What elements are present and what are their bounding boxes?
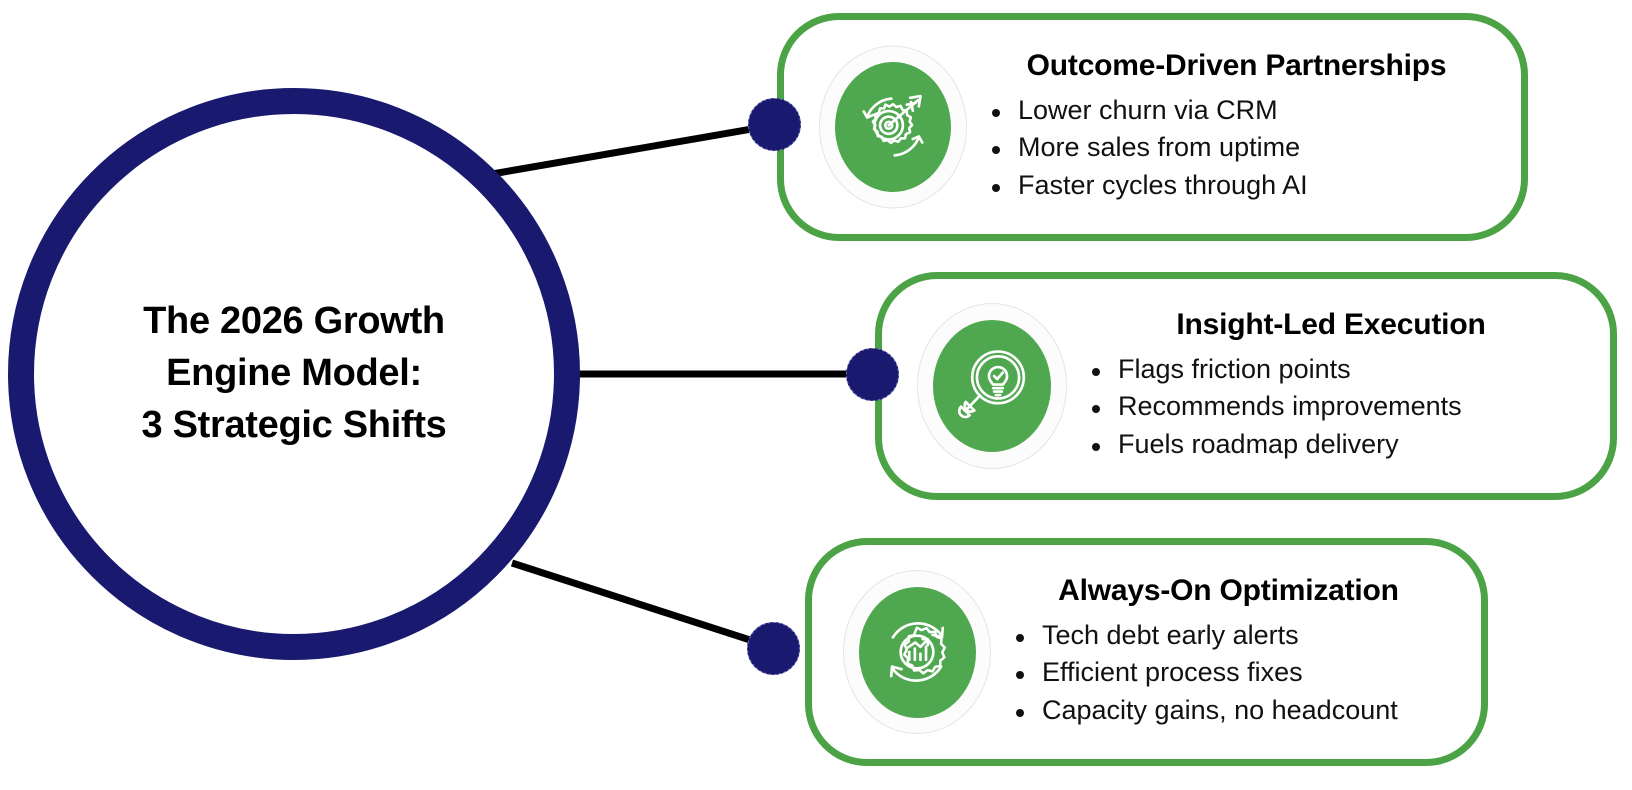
list-item: Fuels roadmap delivery [1114, 427, 1594, 462]
list-item: More sales from uptime [1014, 130, 1505, 165]
diagram-canvas: The 2026 Growth Engine Model: 3 Strategi… [0, 0, 1632, 790]
card-insight-led-execution[interactable]: Insight-Led Execution Flags friction poi… [875, 272, 1617, 500]
connector-node-card-1[interactable] [748, 98, 801, 151]
hub-circle: The 2026 Growth Engine Model: 3 Strategi… [8, 88, 580, 660]
card-1-bullet-list: Lower churn via CRM More sales from upti… [968, 93, 1505, 202]
card-2-body: Insight-Led Execution Flags friction poi… [1068, 308, 1610, 463]
hub-title: The 2026 Growth Engine Model: 3 Strategi… [115, 296, 472, 451]
list-item: Capacity gains, no headcount [1038, 693, 1465, 728]
connector-node-card-3[interactable] [747, 622, 800, 675]
card-3-body: Always-On Optimization Tech debt early a… [992, 574, 1481, 729]
card-3-bullet-list: Tech debt early alerts Efficient process… [992, 618, 1465, 727]
card-2-icon-wrap [916, 302, 1068, 470]
magnifier-lightbulb-check-icon [933, 320, 1051, 452]
gear-target-arrow-icon [835, 62, 951, 192]
card-1-icon-wrap [818, 45, 968, 210]
list-item: Recommends improvements [1114, 389, 1594, 424]
card-1-title: Outcome-Driven Partnerships [968, 49, 1505, 83]
list-item: Lower churn via CRM [1014, 93, 1505, 128]
connector-line-card-1 [492, 125, 775, 174]
list-item: Flags friction points [1114, 352, 1594, 387]
card-1-body: Outcome-Driven Partnerships Lower churn … [968, 49, 1521, 204]
connector-node-card-2[interactable] [846, 348, 899, 401]
card-always-on-optimization[interactable]: Always-On Optimization Tech debt early a… [805, 538, 1488, 766]
card-3-icon-wrap [842, 569, 992, 735]
connector-line-card-3 [512, 563, 778, 649]
card-2-title: Insight-Led Execution [1068, 308, 1594, 342]
gear-bar-chart-growth-icon [859, 587, 976, 718]
list-item: Tech debt early alerts [1038, 618, 1465, 653]
card-2-bullet-list: Flags friction points Recommends improve… [1068, 352, 1594, 461]
list-item: Efficient process fixes [1038, 655, 1465, 690]
list-item: Faster cycles through AI [1014, 168, 1505, 203]
card-3-title: Always-On Optimization [992, 574, 1465, 608]
card-outcome-driven-partnerships[interactable]: Outcome-Driven Partnerships Lower churn … [777, 13, 1528, 241]
